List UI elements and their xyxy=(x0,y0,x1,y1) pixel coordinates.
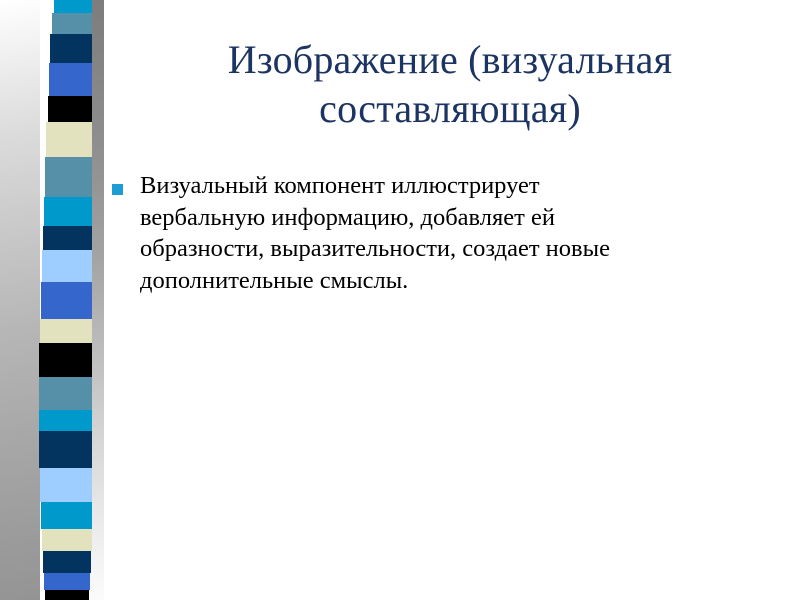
ribbon-band xyxy=(44,197,92,226)
ribbon-band xyxy=(44,573,90,590)
slide-body: Визуальный компонент иллюстрирует вербал… xyxy=(110,170,670,297)
square-bullet-icon xyxy=(112,184,123,195)
ribbon-band xyxy=(52,13,92,34)
ribbon-band xyxy=(39,377,92,410)
ribbon-band xyxy=(43,551,91,573)
ribbon-band xyxy=(49,63,92,96)
ribbon-band xyxy=(43,226,92,250)
ribbon-band xyxy=(54,0,92,13)
ribbon-band xyxy=(45,590,89,600)
bullet-item: Визуальный компонент иллюстрирует вербал… xyxy=(110,170,670,297)
ribbon-band xyxy=(39,431,92,468)
ribbon-band xyxy=(48,96,92,122)
ribbon-band xyxy=(45,157,92,197)
bullet-item-text: Визуальный компонент иллюстрирует вербал… xyxy=(140,170,670,297)
slide-title: Изображение (визуальная составляющая) xyxy=(132,36,768,134)
slide-canvas: Изображение (визуальная составляющая) Ви… xyxy=(0,0,800,600)
ribbon-band xyxy=(39,410,92,431)
ribbon-band xyxy=(39,343,92,377)
ribbon-band xyxy=(41,282,92,319)
ribbon-band xyxy=(40,468,92,502)
ribbon-band xyxy=(42,529,92,551)
decorative-sidebar xyxy=(0,0,104,600)
ribbon-band xyxy=(46,122,92,157)
ribbon-band xyxy=(50,34,92,63)
ribbon-band xyxy=(42,250,92,282)
ribbon-band xyxy=(41,502,92,529)
color-band-ribbon xyxy=(34,0,92,600)
ribbon-band xyxy=(40,319,92,343)
